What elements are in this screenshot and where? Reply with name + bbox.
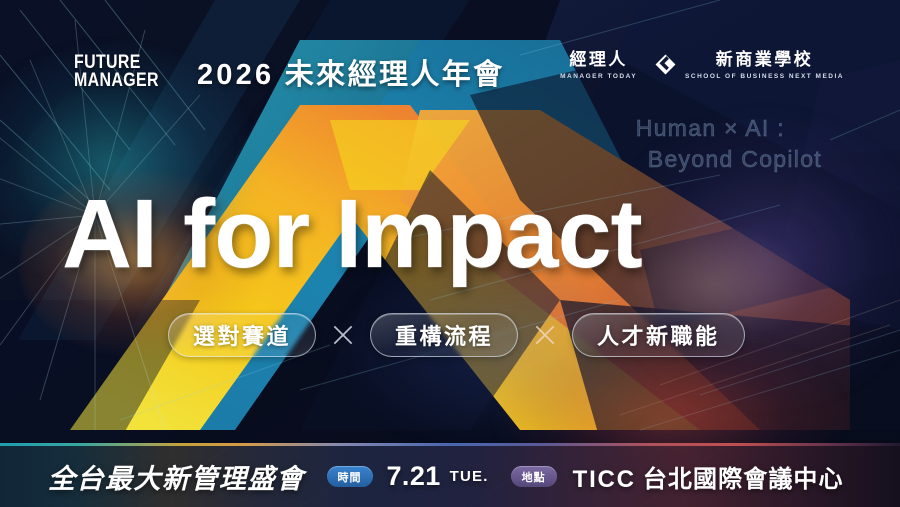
title-chinese: 未來經理人年會 (285, 59, 505, 91)
theme-pill-3[interactable]: 人才新職能 (572, 313, 745, 357)
event-venue: TICC台北國際會議中心 (573, 459, 844, 494)
theme-pill-2[interactable]: 重構流程 (370, 313, 518, 357)
tagline-line-2: Beyond Copilot (636, 144, 822, 175)
event-banner: FUTURE MANAGER 2026 未來經理人年會 經理人 MANAGER … (0, 0, 900, 507)
footer-bar: 全台最大新管理盛會 時間 7.21 TUE. 地點 TICC台北國際會議中心 (0, 443, 900, 507)
title-year: 2026 (197, 59, 274, 91)
footer-headline: 全台最大新管理盛會 (48, 457, 305, 496)
venue-name: 台北國際會議中心 (643, 466, 844, 493)
theme-pill-1[interactable]: 選對賽道 (168, 313, 316, 357)
event-date: 7.21 (387, 461, 441, 492)
future-manager-logo: FUTURE MANAGER (74, 54, 159, 90)
tagline-line-1: Human × AI : (636, 113, 822, 144)
time-label-badge: 時間 (327, 466, 373, 487)
cross-separator-icon (532, 322, 558, 348)
event-weekday: TUE. (450, 468, 489, 485)
venue-abbr: TICC (573, 466, 636, 493)
cross-separator-icon (330, 322, 356, 348)
hero-title: AI for Impact (62, 185, 642, 282)
tagline-watermark: Human × AI : Beyond Copilot (636, 113, 822, 176)
page-title: 2026 未來經理人年會 (197, 51, 505, 93)
theme-pills: 選對賽道 重構流程 人才新職能 (168, 313, 745, 357)
logo-line-2: MANAGER (74, 72, 159, 90)
header-row: FUTURE MANAGER 2026 未來經理人年會 (0, 44, 900, 100)
place-label-badge: 地點 (511, 466, 557, 487)
